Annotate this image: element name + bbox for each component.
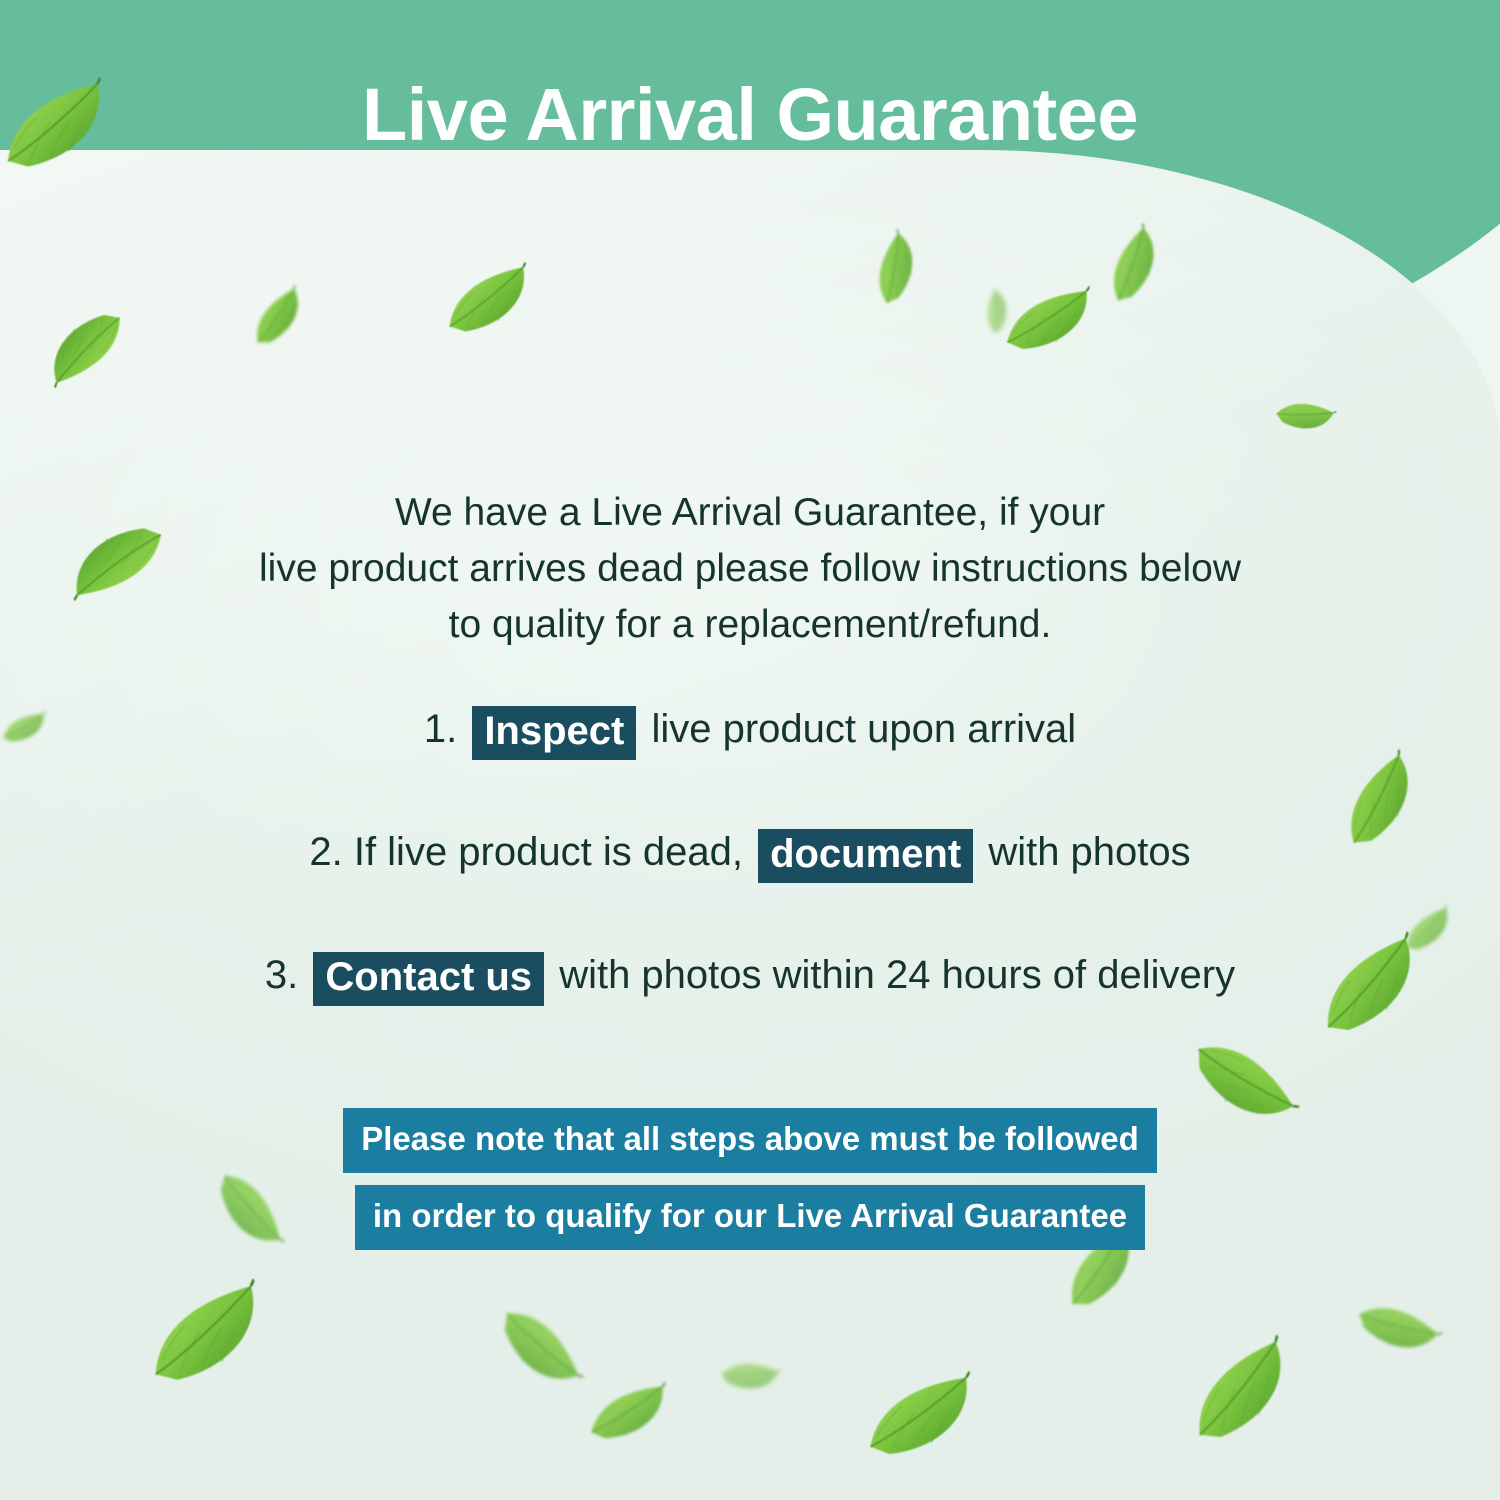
footer-note-line-1: Please note that all steps above must be…: [343, 1108, 1157, 1173]
step-text-after-2: with photos: [988, 830, 1190, 874]
step-number-3: 3.: [265, 953, 298, 997]
step-highlight-inspect: Inspect: [472, 706, 636, 760]
content-area: Live Arrival Guarantee We have a Live Ar…: [0, 0, 1500, 1500]
step-highlight-document: document: [758, 829, 973, 883]
step-highlight-contact-us: Contact us: [313, 952, 544, 1006]
step-item-1: 1. Inspect live product upon arrival: [0, 705, 1500, 760]
intro-paragraph: We have a Live Arrival Guarantee, if you…: [150, 485, 1350, 653]
step-item-3: 3. Contact us with photos within 24 hour…: [0, 951, 1500, 1006]
step-item-2: 2. If live product is dead, document wit…: [0, 828, 1500, 883]
footer-note-line-2: in order to qualify for our Live Arrival…: [355, 1185, 1145, 1250]
intro-line-3: to quality for a replacement/refund.: [150, 597, 1350, 653]
footer-note-row-1: Please note that all steps above must be…: [0, 1108, 1500, 1173]
footer-notes: Please note that all steps above must be…: [0, 1108, 1500, 1250]
steps-list: 1. Inspect live product upon arrival 2. …: [0, 705, 1500, 1006]
intro-line-2: live product arrives dead please follow …: [150, 541, 1350, 597]
footer-note-row-2: in order to qualify for our Live Arrival…: [0, 1185, 1500, 1250]
step-number-2: 2.: [309, 830, 342, 874]
step-text-before-2: If live product is dead,: [354, 830, 743, 874]
step-text-after-3: with photos within 24 hours of delivery: [559, 953, 1235, 997]
step-text-after-1: live product upon arrival: [651, 707, 1076, 751]
step-number-1: 1.: [424, 707, 457, 751]
live-arrival-guarantee-graphic: Live Arrival Guarantee We have a Live Ar…: [0, 0, 1500, 1500]
page-title: Live Arrival Guarantee: [0, 78, 1500, 152]
intro-line-1: We have a Live Arrival Guarantee, if you…: [150, 485, 1350, 541]
